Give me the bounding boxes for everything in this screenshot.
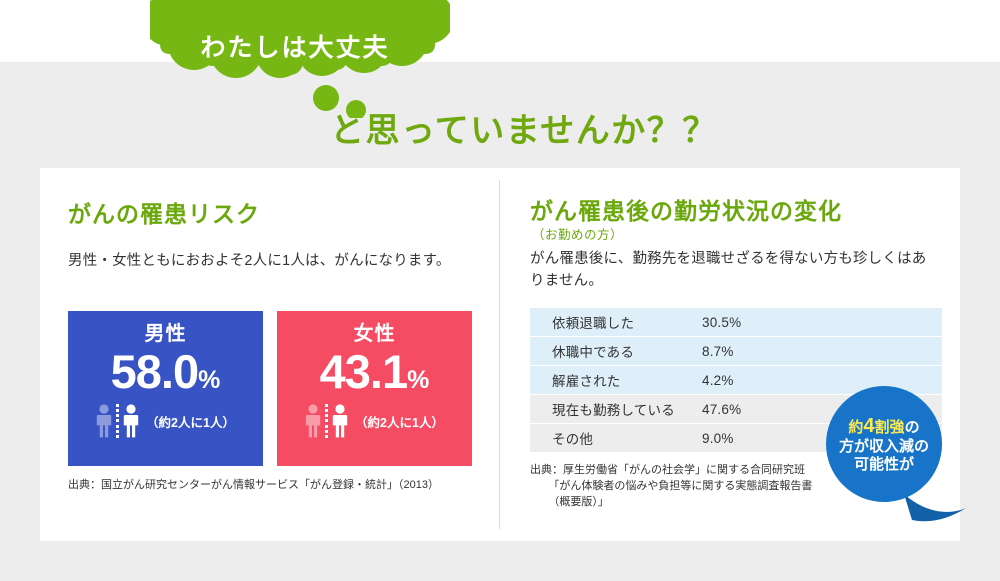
table-row-label: 休職中である [530,341,702,361]
badge-pre: 約 [848,419,863,436]
right-panel-subtitle: （お勤めの方） [532,224,623,243]
person-icon-faded [96,404,112,438]
badge-mid: 割強 [875,419,905,436]
income-reduction-badge: 約4割強の 方が収入減の 可能性が [826,386,942,502]
thought-bubble-text: わたしは大丈夫 [150,28,440,64]
dotted-divider-male [116,404,119,438]
stat-male-value: 58.0% [68,348,263,395]
left-panel-description: 男性・女性ともにおおよそ2人に1人は、がんになります。 [68,250,488,272]
panel-cancer-risk: がんの罹患リスク 男性・女性ともにおおよそ2人に1人は、がんになります。 男性 … [68,168,488,541]
badge-line-3: 可能性が [854,456,914,474]
stat-female-icon-group: （約2人に1人） [277,404,472,438]
infographic-page: わたしは大丈夫 と思っていませんか？？ がんの罹患リスク 男性・女性ともにおおよ… [0,0,1000,581]
panel-divider [499,180,500,529]
stat-male-note: （約2人に1人） [146,412,235,431]
table-row: 休職中である 8.7% [530,337,942,366]
table-row-label: 現在も勤務している [530,399,702,419]
left-panel-title: がんの罹患リスク [68,195,260,229]
badge-line-1: 約4割強の [848,414,919,438]
table-row-value: 30.5% [702,315,741,330]
thought-bubble: わたしは大丈夫 [150,0,450,118]
stat-female-value: 43.1% [277,348,472,395]
badge-number: 4 [863,415,874,437]
table-row-label: その他 [530,428,702,448]
page-headline: と思っていませんか？？ [330,103,718,152]
stat-male-label: 男性 [68,311,263,344]
right-panel-description: がん罹患後に、勤務先を退職せざるを得ない方も珍しくはありません。 [530,248,940,293]
table-row-value: 4.2% [702,373,734,388]
right-panel-title: がん罹患後の勤労状況の変化 [530,192,842,226]
table-row: 依頼退職した 30.5% [530,308,942,337]
left-panel-citation: 出典：国立がん研究センターがん情報サービス「がん登録・統計」（2013） [68,478,439,494]
table-row-value: 9.0% [702,431,734,446]
stat-male-percent: % [198,366,220,394]
table-row-value: 47.6% [702,402,741,417]
stat-box-male: 男性 58.0% [68,311,263,466]
stat-female-percent: % [407,366,429,394]
badge-text: 約4割強の 方が収入減の 可能性が [826,386,942,502]
table-row-label: 依頼退職した [530,312,702,332]
stat-male-number: 58.0 [111,345,198,398]
person-icon-faded [305,404,321,438]
stat-box-female: 女性 43.1% [277,311,472,466]
badge-post: の [905,419,920,436]
content-card: がんの罹患リスク 男性・女性ともにおおよそ2人に1人は、がんになります。 男性 … [40,168,960,541]
stat-female-label: 女性 [277,311,472,344]
table-row-label: 解雇された [530,370,702,390]
stat-box-group: 男性 58.0% [68,311,484,466]
panel-employment-change: がん罹患後の勤労状況の変化 （お勤めの方） がん罹患後に、勤務先を退職せざるを得… [530,168,942,541]
person-icon-solid [332,404,348,438]
person-icon-solid [123,404,139,438]
stat-female-number: 43.1 [320,345,407,398]
table-row-value: 8.7% [702,344,734,359]
stat-male-icon-group: （約2人に1人） [68,404,263,438]
stat-female-note: （約2人に1人） [355,412,444,431]
badge-line-2: 方が収入減の [839,438,929,456]
dotted-divider-female [325,404,328,438]
right-panel-citation: 出典：厚生労働省「がんの社会学」に関する合同研究班 「がん体験者の悩みや負担等に… [530,463,812,511]
